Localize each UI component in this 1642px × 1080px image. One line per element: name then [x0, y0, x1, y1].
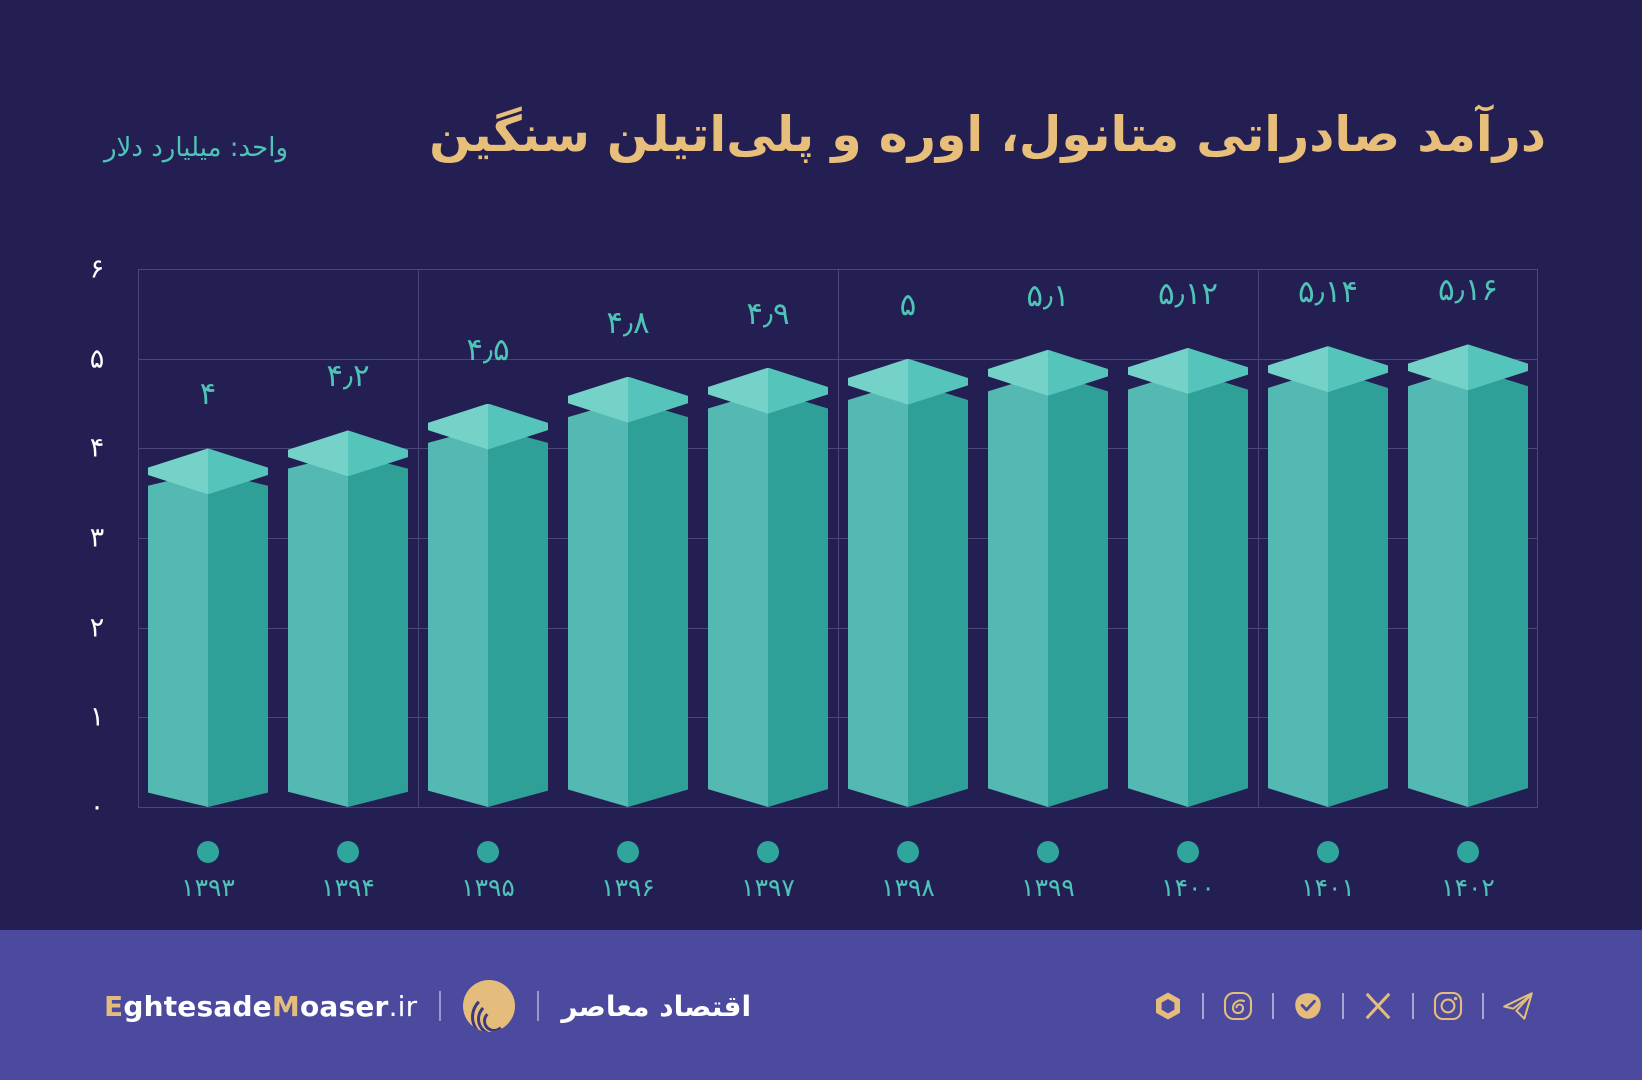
- bar-face-left: [288, 453, 348, 807]
- y-axis-tick-label: ۱: [62, 702, 132, 733]
- bar-body: [848, 382, 968, 807]
- bar-face-left: [428, 427, 488, 808]
- bar-value-label: ۴: [128, 376, 288, 412]
- footer-brand[interactable]: اقتصاد معاصر EghtesadeMoaser.ir: [104, 980, 751, 1032]
- bar-body: [1408, 367, 1528, 807]
- bar-face-right: [768, 391, 828, 807]
- bar-top-face: [848, 359, 968, 405]
- url-tld: .ir: [389, 990, 418, 1023]
- bar-body: [428, 427, 548, 808]
- y-axis-tick-label: ۶: [62, 254, 132, 285]
- url-initial-m: M: [272, 990, 300, 1023]
- bar-body: [148, 471, 268, 807]
- url-part-1: ghtesade: [123, 990, 272, 1023]
- bar-top-face: [288, 430, 408, 476]
- category-dot-marker: [337, 841, 359, 863]
- bar-column[interactable]: ۴٫۸: [568, 269, 688, 807]
- brand-logo-icon: [463, 980, 515, 1032]
- bar-column[interactable]: ۵٫۱۴: [1268, 269, 1388, 807]
- bar-column[interactable]: ۴٫۵: [428, 269, 548, 807]
- bar-body: [288, 453, 408, 807]
- bar[interactable]: [1128, 348, 1248, 807]
- url-initial-e: E: [104, 990, 123, 1023]
- bar-column[interactable]: ۵٫۱۲: [1128, 269, 1248, 807]
- y-axis-tick-label: ۵: [62, 343, 132, 374]
- gridline-vertical: [138, 269, 139, 807]
- bar-body: [568, 400, 688, 807]
- category-dot-marker: [197, 841, 219, 863]
- bar[interactable]: [848, 359, 968, 807]
- footer-bar: اقتصاد معاصر EghtesadeMoaser.ir: [0, 930, 1642, 1080]
- y-axis-tick-label: ۳: [62, 523, 132, 554]
- bar-body: [1268, 369, 1388, 807]
- divider: [439, 991, 441, 1021]
- gridline-vertical: [1537, 269, 1538, 807]
- bar-value-label: ۵: [828, 287, 988, 323]
- unit-label: واحد: میلیارد دلار: [104, 133, 288, 163]
- divider: [537, 991, 539, 1021]
- bar-column[interactable]: ۴٫۲: [288, 269, 408, 807]
- bar[interactable]: [288, 430, 408, 807]
- divider: [1342, 993, 1344, 1019]
- bar[interactable]: [708, 368, 828, 807]
- bar[interactable]: [428, 404, 548, 808]
- divider: [1412, 993, 1414, 1019]
- divider: [1482, 993, 1484, 1019]
- gridline-vertical: [838, 269, 839, 807]
- category-dot-marker: [897, 841, 919, 863]
- bar-face-right: [208, 471, 268, 807]
- gridline-horizontal: [138, 807, 1538, 808]
- bar-body: [708, 391, 828, 807]
- bar-top-face: [1128, 348, 1248, 394]
- bar[interactable]: [988, 350, 1108, 807]
- rubika-icon[interactable]: [1148, 986, 1188, 1026]
- category-dot-marker: [1177, 841, 1199, 863]
- bar-value-label: ۴٫۸: [548, 305, 708, 341]
- bar-value-label: ۴٫۲: [268, 358, 428, 394]
- bar-face-right: [628, 400, 688, 807]
- category-dot-marker: [1457, 841, 1479, 863]
- gridline-vertical: [1258, 269, 1259, 807]
- bar[interactable]: [568, 377, 688, 807]
- bar[interactable]: [1268, 346, 1388, 807]
- bar-face-left: [1128, 371, 1188, 807]
- social-links[interactable]: [1148, 986, 1538, 1026]
- bar-column[interactable]: ۴: [148, 269, 268, 807]
- bar-top-face: [988, 350, 1108, 396]
- bar-value-label: ۴٫۹: [688, 296, 848, 332]
- bale-icon[interactable]: [1288, 986, 1328, 1026]
- bar[interactable]: [1408, 344, 1528, 807]
- bar-face-right: [1468, 367, 1528, 807]
- bar-value-label: ۵٫۱۴: [1248, 274, 1408, 310]
- telegram-icon[interactable]: [1498, 986, 1538, 1026]
- website-url[interactable]: EghtesadeMoaser.ir: [104, 990, 417, 1023]
- bar-body: [1128, 371, 1248, 807]
- bar-face-right: [488, 427, 548, 808]
- bar-value-label: ۵٫۱۲: [1108, 276, 1268, 312]
- bar-face-right: [1188, 371, 1248, 807]
- bar-column[interactable]: ۵٫۱۶: [1408, 269, 1528, 807]
- divider: [1202, 993, 1204, 1019]
- divider: [1272, 993, 1274, 1019]
- page-title: درآمد صادراتی متانول، اوره و پلی‌اتیلن س…: [446, 104, 1546, 167]
- x-twitter-icon[interactable]: [1358, 986, 1398, 1026]
- bar-face-right: [1328, 369, 1388, 807]
- bar-face-right: [1048, 373, 1108, 807]
- category-dot-marker: [477, 841, 499, 863]
- bar-face-right: [908, 382, 968, 807]
- bar-top-face: [428, 404, 548, 450]
- instagram-icon[interactable]: [1428, 986, 1468, 1026]
- bar-top-face: [708, 368, 828, 414]
- brand-name-fa: اقتصاد معاصر: [561, 990, 751, 1023]
- url-part-2: oaser: [300, 990, 389, 1023]
- bar-face-left: [568, 400, 628, 807]
- chart-plot-area: ۴۱۳۹۳۴٫۲۱۳۹۴۴٫۵۱۳۹۵۴٫۸۱۳۹۶۴٫۹۱۳۹۷۵۱۳۹۸۵٫…: [138, 269, 1538, 807]
- y-axis-tick-label: ۴: [62, 433, 132, 464]
- bar-column[interactable]: ۵٫۱: [988, 269, 1108, 807]
- bar-column[interactable]: ۴٫۹: [708, 269, 828, 807]
- bar-face-left: [988, 373, 1048, 807]
- category-dot-marker: [757, 841, 779, 863]
- y-axis-tick-label: ۰: [62, 792, 132, 823]
- bar-value-label: ۴٫۵: [408, 332, 568, 368]
- bar-face-left: [1268, 369, 1328, 807]
- bar-face-left: [1408, 367, 1468, 807]
- bar-value-label: ۵٫۱۶: [1388, 272, 1548, 308]
- x-axis-tick-label: ۱۴۰۲: [1378, 873, 1558, 902]
- bar-top-face: [1408, 344, 1528, 390]
- bar-face-left: [708, 391, 768, 807]
- eitaa-icon[interactable]: [1218, 986, 1258, 1026]
- bar-top-face: [568, 377, 688, 423]
- bar-top-face: [1268, 346, 1388, 392]
- bar-value-label: ۵٫۱: [968, 278, 1128, 314]
- category-dot-marker: [1317, 841, 1339, 863]
- bar[interactable]: [148, 448, 268, 807]
- bar-face-left: [148, 471, 208, 807]
- category-dot-marker: [617, 841, 639, 863]
- infographic-canvas: درآمد صادراتی متانول، اوره و پلی‌اتیلن س…: [0, 0, 1642, 1080]
- bar-top-face: [148, 448, 268, 494]
- category-dot-marker: [1037, 841, 1059, 863]
- bar-column[interactable]: ۵: [848, 269, 968, 807]
- y-axis-tick-label: ۲: [62, 612, 132, 643]
- bar-face-left: [848, 382, 908, 807]
- bar-face-right: [348, 453, 408, 807]
- bar-body: [988, 373, 1108, 807]
